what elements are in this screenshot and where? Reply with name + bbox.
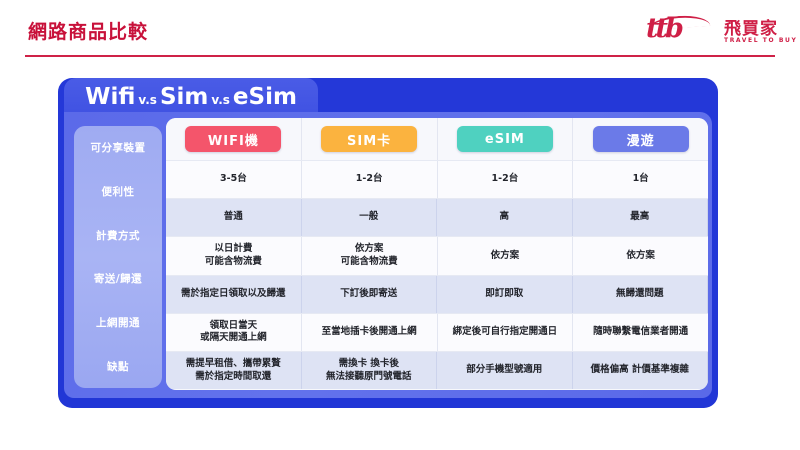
table-row: 3-5台1-2台1-2台1台 (166, 160, 708, 198)
table-cell-r0-c2: 1-2台 (438, 161, 574, 198)
cell-line: 綁定後可自行指定開通日 (453, 326, 558, 339)
card-title-part3: eSim (233, 84, 297, 110)
page-header: 網路商品比較 ttb 飛買家 TRAVEL TO BUY (0, 0, 800, 62)
cell-line: 部分手機型號適用 (466, 364, 542, 377)
table-cell-r4-c2: 綁定後可自行指定開通日 (438, 314, 574, 351)
table-cell-r5-c0: 需提早租借、攜帶累贅需於指定時間取還 (166, 352, 302, 389)
column-header-esim: eSIM (438, 118, 574, 160)
cell-line: 需提早租借、攜帶累贅 (186, 358, 281, 371)
comparison-card: Wifiv.sSimv.seSim 可分享裝置 便利性 計費方式 寄送/歸還 上… (58, 78, 718, 408)
cell-line: 高 (499, 211, 509, 224)
brand-logo: ttb 飛買家 TRAVEL TO BUY (646, 10, 778, 54)
column-pill-roaming: 漫遊 (593, 126, 689, 152)
cell-line: 1台 (633, 173, 649, 186)
cell-line: 一般 (359, 211, 378, 224)
row-label-5: 缺點 (74, 344, 162, 388)
cell-line: 依方案 (355, 243, 384, 256)
row-label-1: 便利性 (74, 170, 162, 214)
table-cell-r4-c3: 隨時聯繫電信業者開通 (573, 314, 708, 351)
brand-name-cn: 飛買家 (724, 14, 778, 39)
table-row: 普通一般高最高 (166, 198, 708, 236)
cell-line: 以日計費 (214, 243, 252, 256)
cell-line: 至當地插卡後開通上網 (322, 326, 417, 339)
column-pill-wifi: WIFI機 (185, 126, 281, 152)
cell-line: 價格偏高 計價基準複雜 (591, 364, 689, 377)
cell-line: 需於指定時間取還 (195, 371, 271, 384)
table-cell-r3-c2: 即訂即取 (437, 276, 573, 313)
table-cell-r3-c0: 需於指定日領取以及歸還 (166, 276, 302, 313)
table-cell-r1-c0: 普通 (166, 199, 302, 236)
table-cell-r2-c0: 以日計費可能含物流費 (166, 237, 302, 274)
table-body: 3-5台1-2台1-2台1台普通一般高最高以日計費可能含物流費依方案可能含物流費… (166, 160, 708, 389)
row-label-2: 計費方式 (74, 213, 162, 257)
brand-name-en: TRAVEL TO BUY (724, 37, 797, 44)
card-title-vs2: v.s (208, 93, 233, 107)
cell-line: 需於指定日領取以及歸還 (181, 288, 286, 301)
page-title: 網路商品比較 (28, 17, 148, 44)
table-row: 領取日當天或隔天開通上網至當地插卡後開通上網綁定後可自行指定開通日隨時聯繫電信業… (166, 313, 708, 351)
table-cell-r1-c2: 高 (437, 199, 573, 236)
cell-line: 需換卡 換卡後 (339, 358, 399, 371)
column-pill-sim: SIM卡 (321, 126, 417, 152)
column-header-sim: SIM卡 (302, 118, 438, 160)
row-label-0: 可分享裝置 (74, 126, 162, 170)
table-cell-r1-c1: 一般 (302, 199, 438, 236)
comparison-table: WIFI機 SIM卡 eSIM 漫遊 3-5台1-2台1-2台1台普通一般高最高… (166, 118, 708, 390)
table-cell-r2-c1: 依方案可能含物流費 (302, 237, 438, 274)
cell-line: 或隔天開通上網 (200, 332, 267, 345)
row-label-3: 寄送/歸還 (74, 257, 162, 301)
cell-line: 無歸還問題 (616, 288, 664, 301)
cell-line: 1-2台 (356, 173, 383, 186)
cell-line: 無法接聽原門號電話 (326, 371, 412, 384)
cell-line: 1-2台 (492, 173, 519, 186)
cell-line: 依方案 (491, 250, 520, 263)
table-cell-r4-c0: 領取日當天或隔天開通上網 (166, 314, 302, 351)
table-cell-r3-c3: 無歸還問題 (573, 276, 709, 313)
table-cell-r0-c0: 3-5台 (166, 161, 302, 198)
cell-line: 依方案 (626, 250, 655, 263)
column-pill-esim: eSIM (457, 126, 553, 152)
cell-line: 即訂即取 (485, 288, 523, 301)
cell-line: 3-5台 (220, 173, 247, 186)
table-cell-r3-c1: 下訂後即寄送 (302, 276, 438, 313)
table-cell-r2-c3: 依方案 (573, 237, 708, 274)
table-cell-r2-c2: 依方案 (438, 237, 574, 274)
row-label-column: 可分享裝置 便利性 計費方式 寄送/歸還 上網開通 缺點 (74, 126, 162, 388)
table-cell-r5-c3: 價格偏高 計價基準複雜 (573, 352, 709, 389)
cell-line: 隨時聯繫電信業者開通 (593, 326, 688, 339)
brand-swoosh-icon (646, 12, 718, 46)
table-header-row: WIFI機 SIM卡 eSIM 漫遊 (166, 118, 708, 160)
table-cell-r0-c3: 1台 (573, 161, 708, 198)
cell-line: 最高 (630, 211, 649, 224)
table-cell-r5-c1: 需換卡 換卡後無法接聽原門號電話 (302, 352, 438, 389)
table-cell-r0-c1: 1-2台 (302, 161, 438, 198)
cell-line: 可能含物流費 (341, 256, 398, 269)
table-row: 需提早租借、攜帶累贅需於指定時間取還需換卡 換卡後無法接聽原門號電話部分手機型號… (166, 351, 708, 389)
card-title-part1: Wifi (85, 84, 135, 110)
card-title-vs1: v.s (135, 93, 160, 107)
cell-line: 可能含物流費 (205, 256, 262, 269)
cell-line: 領取日當天 (210, 320, 258, 333)
table-row: 以日計費可能含物流費依方案可能含物流費依方案依方案 (166, 236, 708, 274)
row-label-4: 上網開通 (74, 301, 162, 345)
table-row: 需於指定日領取以及歸還下訂後即寄送即訂即取無歸還問題 (166, 275, 708, 313)
column-header-roaming: 漫遊 (573, 118, 708, 160)
table-cell-r4-c1: 至當地插卡後開通上網 (302, 314, 438, 351)
table-cell-r1-c3: 最高 (573, 199, 709, 236)
column-header-wifi: WIFI機 (166, 118, 302, 160)
card-title: Wifiv.sSimv.seSim (85, 84, 297, 110)
header-divider (25, 55, 775, 57)
cell-line: 下訂後即寄送 (340, 288, 397, 301)
card-title-part2: Sim (160, 84, 208, 110)
cell-line: 普通 (224, 211, 243, 224)
table-cell-r5-c2: 部分手機型號適用 (437, 352, 573, 389)
